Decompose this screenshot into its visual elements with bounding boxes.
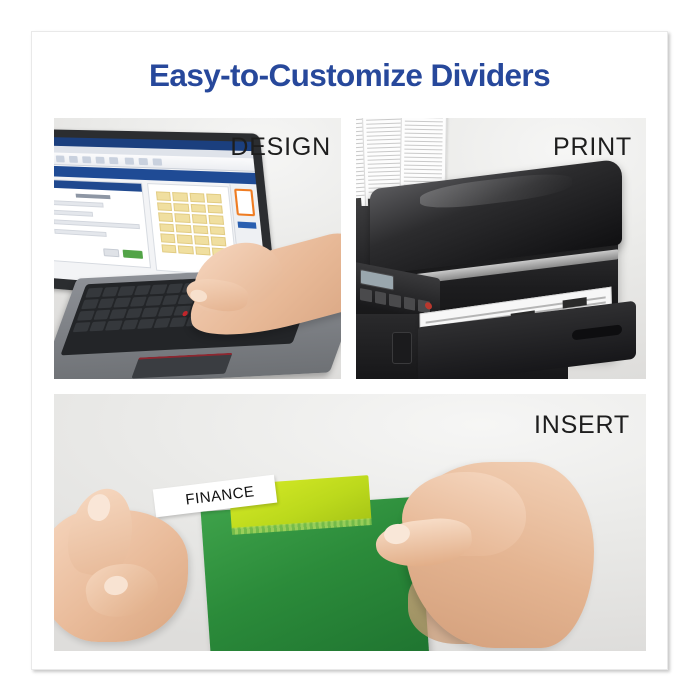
product-feature-card: Easy-to-Customize Dividers — [31, 31, 668, 670]
options-apply-button — [123, 250, 144, 259]
selected-template-thumbnail — [234, 189, 255, 217]
left-hand-holding-label — [54, 472, 214, 647]
panel-insert: FINANCE INSERT — [54, 394, 646, 651]
printer-cartridge-door — [392, 332, 412, 364]
panel-print: PRINT — [356, 118, 646, 379]
options-field-3 — [54, 219, 140, 229]
tray-handle — [572, 324, 622, 340]
app-options-panel — [54, 179, 151, 268]
panel-label-insert: INSERT — [534, 411, 630, 440]
page-title: Easy-to-Customize Dividers — [32, 57, 667, 94]
panel-design: DESIGN — [54, 118, 341, 379]
rail-action-button — [238, 222, 257, 229]
right-hand-holding-divider — [382, 442, 594, 651]
options-panel-title — [76, 194, 111, 199]
hand-on-keyboard — [171, 224, 341, 362]
panel-label-print: PRINT — [553, 133, 632, 162]
options-field-1 — [54, 200, 104, 207]
options-cancel-button — [103, 248, 119, 257]
options-panel-header — [54, 180, 142, 192]
options-field-4 — [54, 229, 107, 237]
options-field-2 — [54, 210, 93, 217]
printer-lcd-display — [360, 269, 394, 291]
panel-label-design: DESIGN — [230, 133, 331, 162]
